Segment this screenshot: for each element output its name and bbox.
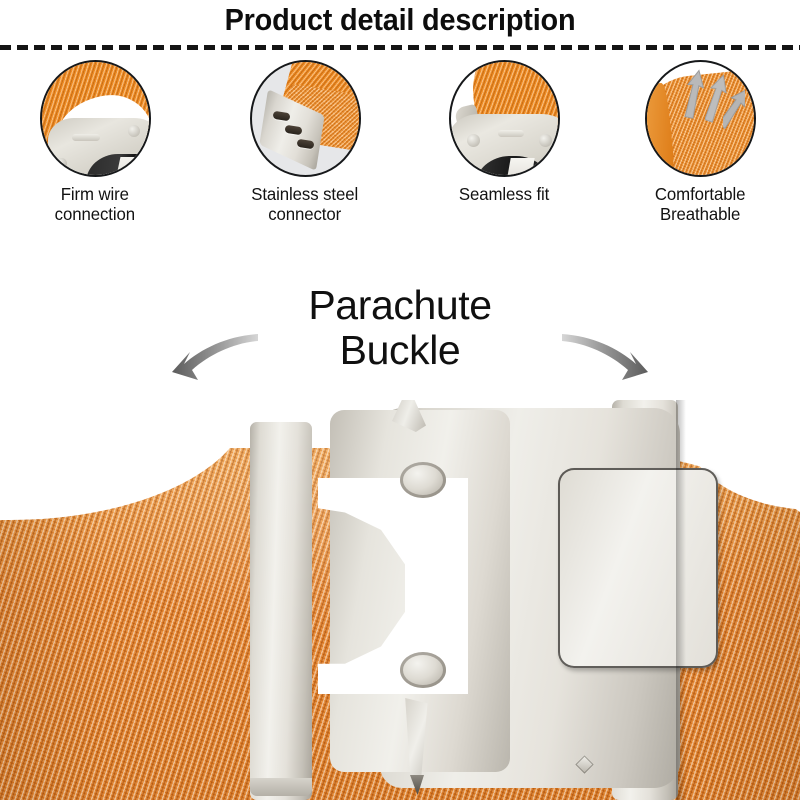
watch-crown <box>128 125 140 137</box>
comfortable-breathable-photo <box>645 60 756 177</box>
seamless-fit-photo <box>449 60 560 177</box>
dashed-divider <box>0 45 800 50</box>
product-detail-image: Product detail description Firm wire con… <box>0 0 800 800</box>
latch-hole-top <box>400 462 446 498</box>
stainless-steel-connector-photo <box>250 60 361 177</box>
watch-screw-left <box>467 134 480 147</box>
hero-title: Parachute Buckle <box>0 283 800 373</box>
page-title: Product detail description <box>28 2 772 38</box>
feature-item-seamless-fit: Seamless fit <box>404 60 604 260</box>
watch-screw <box>56 158 67 169</box>
watch-side-button <box>72 134 100 141</box>
watch-screw-right <box>539 134 552 147</box>
feature-row: Firm wire connection Stainless steel con… <box>0 60 800 260</box>
feature-item-stainless-steel-connector: Stainless steel connector <box>205 60 405 260</box>
feature-label: Seamless fit <box>459 184 549 204</box>
curved-arrow-right-icon <box>560 330 670 395</box>
airflow-arrow-icon <box>723 84 745 132</box>
airflow-arrow-icon <box>683 68 705 120</box>
feature-label: Stainless steel connector <box>252 184 359 224</box>
latch-hole-bottom <box>400 652 446 688</box>
curved-arrow-left-icon <box>150 330 260 395</box>
strap-keeper-left <box>250 422 312 800</box>
feature-item-firm-wire-connection: Firm wire connection <box>0 60 195 260</box>
strap-keeper-left-cap <box>250 778 312 796</box>
firm-wire-connection-photo <box>40 60 151 177</box>
feature-label: Comfortable Breathable <box>655 184 745 224</box>
watch-side-button <box>498 130 524 137</box>
buckle-edge-shadow <box>676 400 686 800</box>
hero-product-photo <box>0 400 800 800</box>
feature-label: Firm wire connection <box>55 184 135 224</box>
feature-item-comfortable-breathable: Comfortable Breathable <box>600 60 800 260</box>
buckle-recessed-panel <box>558 468 718 668</box>
